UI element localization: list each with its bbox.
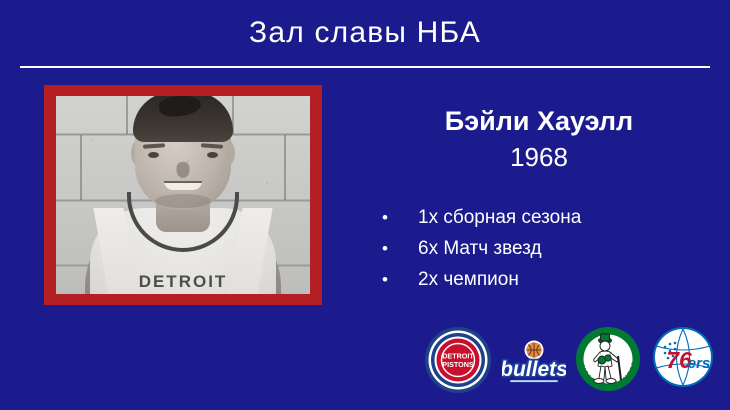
hair-part: [158, 96, 202, 119]
player-photo-frame: DETROIT: [44, 85, 322, 305]
page-title: Зал славы НБА: [0, 16, 730, 50]
jersey-wordmark: DETROIT: [139, 272, 228, 292]
sixers-suffix: ers: [688, 355, 711, 372]
induction-year: 1968: [360, 142, 718, 173]
bullet-icon: •: [382, 202, 418, 233]
list-item: • 2x чемпион: [382, 264, 581, 295]
player-photo: DETROIT: [56, 96, 310, 294]
chin-shadow: [155, 194, 211, 208]
pistons-line2: PISTONS: [442, 360, 474, 369]
nose: [177, 162, 190, 178]
portrait-figure: DETROIT: [83, 98, 283, 294]
achievement-label: 1x сборная сезона: [418, 202, 581, 233]
pistons-logo-icon: DETROIT PISTONS: [424, 326, 492, 399]
title-divider: [20, 66, 710, 68]
eye-left: [148, 152, 159, 158]
list-item: • 6x Матч звезд: [382, 233, 581, 264]
achievement-label: 2x чемпион: [418, 264, 519, 295]
bullet-icon: •: [382, 233, 418, 264]
slide-canvas: Зал славы НБА DETROIT: [0, 0, 730, 410]
achievements-list: • 1x сборная сезона • 6x Матч звезд • 2x…: [382, 202, 581, 295]
sixers-logo-icon: 76 ers: [652, 326, 714, 393]
bullets-logo-icon: bullets: [502, 338, 566, 395]
eye-right: [207, 152, 218, 158]
wall-seam: [284, 135, 286, 200]
celtics-logo-icon: BOSTON CELTICS: [574, 326, 642, 401]
bullets-wordmark: bullets: [502, 358, 566, 381]
pistons-line1: DETROIT: [442, 351, 474, 360]
bullet-icon: •: [382, 264, 418, 295]
list-item: • 1x сборная сезона: [382, 202, 581, 233]
mouth: [164, 181, 202, 190]
wall-seam: [80, 135, 82, 200]
team-logos-row: DETROIT PISTONS bullets: [424, 326, 714, 396]
hair: [133, 96, 233, 142]
achievement-label: 6x Матч звезд: [418, 233, 542, 264]
player-name: Бэйли Хауэлл: [360, 106, 718, 137]
